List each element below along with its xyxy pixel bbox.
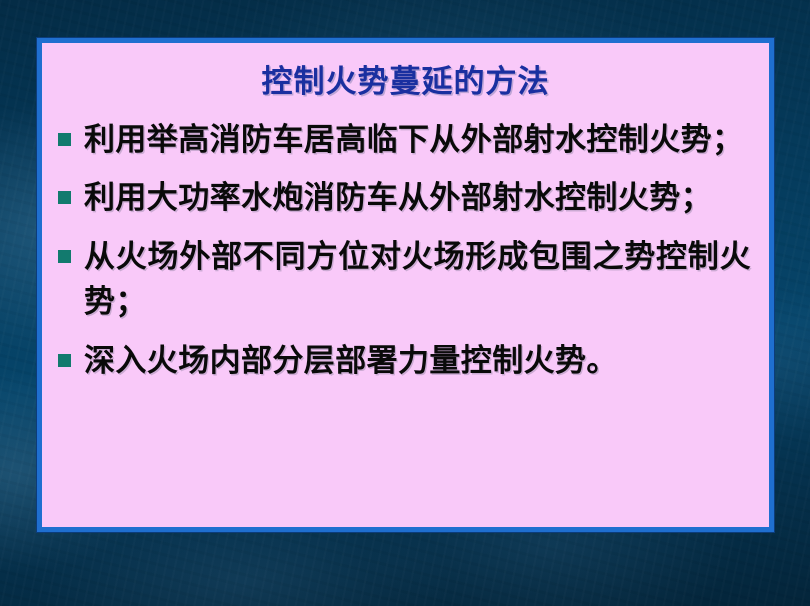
square-bullet-icon: [58, 354, 71, 367]
bullet-list: 利用举高消防车居高临下从外部射水控制火势； 利用大功率水炮消防车从外部射水控制火…: [56, 118, 755, 385]
list-item: 深入火场内部分层部署力量控制火势。: [58, 339, 751, 385]
square-bullet-icon: [58, 191, 71, 204]
list-item-label: 利用举高消防车居高临下从外部射水控制火势；: [84, 118, 751, 164]
square-bullet-icon: [58, 133, 71, 146]
page-title: 控制火势蔓延的方法: [56, 53, 755, 108]
list-item: 利用大功率水炮消防车从外部射水控制火势；: [58, 176, 751, 222]
list-item: 利用举高消防车居高临下从外部射水控制火势；: [58, 118, 751, 164]
list-item-label: 利用大功率水炮消防车从外部射水控制火势；: [84, 176, 751, 222]
content-panel: 控制火势蔓延的方法 利用举高消防车居高临下从外部射水控制火势； 利用大功率水炮消…: [37, 38, 774, 532]
list-item-label: 深入火场内部分层部署力量控制火势。: [84, 339, 751, 385]
list-item: 从火场外部不同方位对火场形成包围之势控制火势；: [58, 235, 751, 326]
square-bullet-icon: [58, 250, 71, 263]
list-item-label: 从火场外部不同方位对火场形成包围之势控制火势；: [84, 235, 751, 326]
